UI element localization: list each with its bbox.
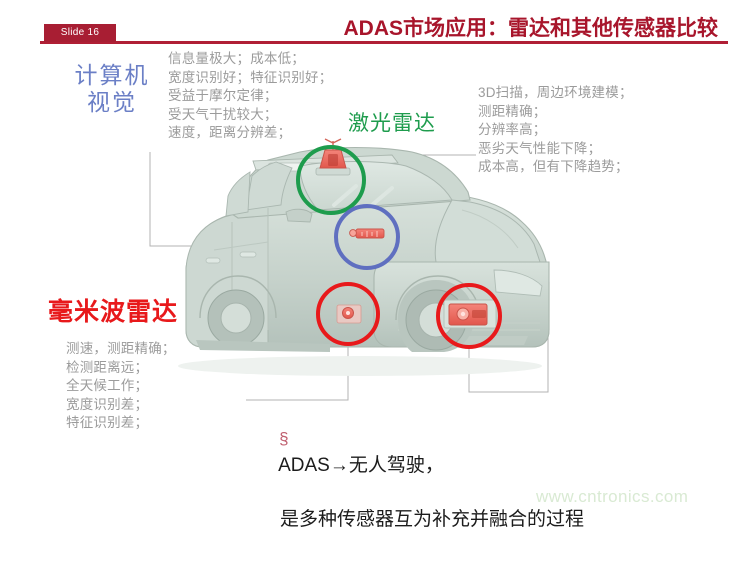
text-computer-vision: 信息量极大；成本低； 宽度识别好；特征识别好； 受益于摩尔定律； 受天气干扰较大…	[168, 50, 332, 143]
summary-line-1: ADAS→无人驾驶，	[278, 455, 444, 476]
wheel-rear	[208, 290, 264, 346]
label-millimeter-wave-radar: 毫米波雷达	[48, 298, 178, 328]
text-radar: 测速，测距精确； 检测距离远； 全天候工作； 宽度识别差； 特征识别差；	[66, 340, 176, 433]
page-title: ADAS市场应用：雷达和其他传感器比较	[343, 16, 718, 41]
section-marker-icon: §	[279, 429, 288, 448]
summary-line-2: 是多种传感器互为补充并融合的过程	[280, 506, 658, 533]
radar-sensor-left	[337, 305, 361, 323]
label-lidar: 激光雷达	[348, 112, 436, 137]
text-lidar: 3D扫描，周边环境建模； 测距精确； 分辨率高； 恶劣天气性能下降； 成本高，但…	[478, 84, 633, 177]
slide-canvas: Slide 16 ADAS市场应用：雷达和其他传感器比较 计算机 视觉 激光雷达…	[0, 0, 740, 514]
header-rule	[40, 41, 728, 44]
slide-number-badge: Slide 16	[44, 24, 116, 42]
radar-sensor-right	[444, 300, 496, 328]
label-computer-vision: 计算机 视觉	[56, 62, 168, 116]
site-watermark: www.cntronics.com	[536, 487, 688, 507]
